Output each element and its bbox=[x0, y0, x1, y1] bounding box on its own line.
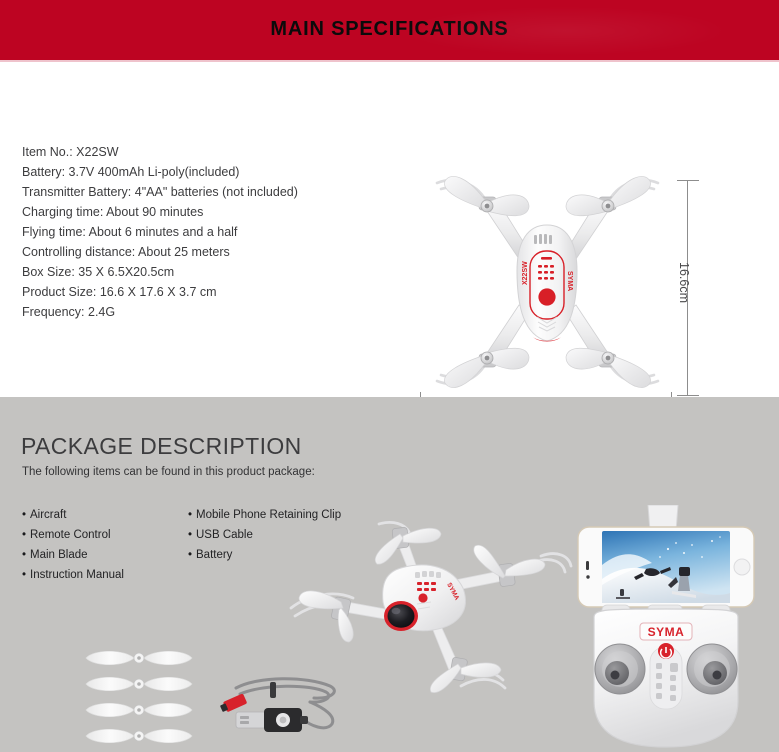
spec-item-box-size: Box Size: 35 X 6.5X20.5cm bbox=[22, 262, 298, 282]
spec-item-frequency: Frequency: 2.4G bbox=[22, 302, 298, 322]
spec-item-controlling-distance: Controlling distance: About 25 meters bbox=[22, 242, 298, 262]
package-item-aircraft: Aircraft bbox=[30, 509, 66, 521]
svg-text:X22SW: X22SW bbox=[522, 261, 529, 285]
bullet-icon: • bbox=[22, 525, 30, 545]
spec-item-product-size: Product Size: 16.6 X 17.6 X 3.7 cm bbox=[22, 282, 298, 302]
package-description-section: PACKAGE DESCRIPTION The following items … bbox=[0, 397, 779, 752]
spec-item-battery: Battery: 3.7V 400mAh Li-poly(included) bbox=[22, 162, 298, 182]
spec-item-transmitter-battery: Transmitter Battery: 4"AA" batteries (no… bbox=[22, 182, 298, 202]
svg-text:SYMA: SYMA bbox=[566, 271, 573, 291]
height-dimension-cap-bottom bbox=[677, 395, 699, 396]
remote-control-with-phone-image: SYMA bbox=[572, 505, 760, 752]
bullet-icon: • bbox=[22, 545, 30, 565]
list-item: •Remote Control bbox=[22, 525, 124, 545]
package-subtitle: The following items can be found in this… bbox=[22, 466, 315, 478]
package-item-remote-control: Remote Control bbox=[30, 529, 111, 541]
list-item: •Instruction Manual bbox=[22, 565, 124, 585]
list-item: •Main Blade bbox=[22, 545, 124, 565]
height-dimension-cap-top bbox=[677, 180, 699, 181]
svg-text:SYMA: SYMA bbox=[648, 625, 685, 639]
page-title: MAIN SPECIFICATIONS bbox=[0, 18, 779, 41]
bullet-icon: • bbox=[22, 505, 30, 525]
specifications-list: Item No.: X22SW Battery: 3.7V 400mAh Li-… bbox=[22, 142, 298, 322]
drone-top-view-image: X22SW SYMA bbox=[425, 167, 670, 397]
drone-angled-view-image: SYMA bbox=[283, 518, 578, 703]
bullet-icon: • bbox=[188, 525, 196, 545]
bullet-icon: • bbox=[188, 545, 196, 565]
main-specifications-header: MAIN SPECIFICATIONS bbox=[0, 0, 779, 60]
package-title: PACKAGE DESCRIPTION bbox=[21, 433, 302, 460]
package-item-instruction-manual: Instruction Manual bbox=[30, 569, 124, 581]
package-item-usb-cable: USB Cable bbox=[196, 529, 253, 541]
spec-item-item-no: Item No.: X22SW bbox=[22, 142, 298, 162]
spare-blades-image bbox=[80, 638, 198, 752]
spec-item-flying-time: Flying time: About 6 minutes and a half bbox=[22, 222, 298, 242]
package-item-main-blade: Main Blade bbox=[30, 549, 88, 561]
list-item: •Aircraft bbox=[22, 505, 124, 525]
spec-item-charging-time: Charging time: About 90 minutes bbox=[22, 202, 298, 222]
package-items-left-column: •Aircraft •Remote Control •Main Blade •I… bbox=[22, 505, 124, 585]
dimension-diagram: 16.6cm 17.6cm bbox=[415, 112, 715, 442]
bullet-icon: • bbox=[22, 565, 30, 585]
bullet-icon: • bbox=[188, 505, 196, 525]
height-dimension-label: 16.6cm bbox=[677, 262, 691, 303]
specifications-section: Item No.: X22SW Battery: 3.7V 400mAh Li-… bbox=[0, 62, 779, 397]
package-item-battery: Battery bbox=[196, 549, 232, 561]
